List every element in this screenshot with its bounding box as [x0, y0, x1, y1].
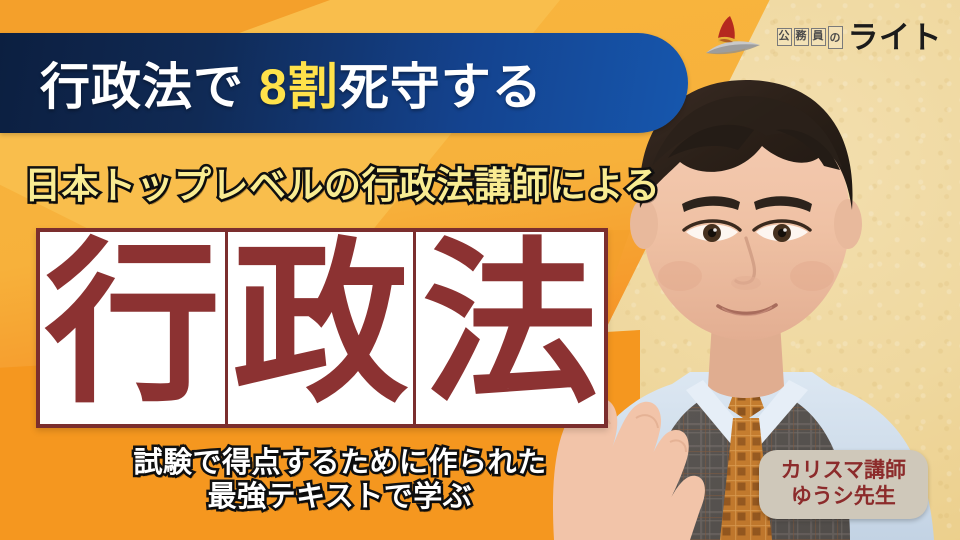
thumbnail-canvas: 公 務 員 の ライト 行政法で 8割死守する 日本トップレベルの行政法講師によ… — [0, 0, 960, 540]
light-wing-logo-icon — [702, 14, 768, 60]
caption-line-1: 試験で得点するために作られた — [70, 446, 610, 480]
title-highlight: 8割 — [259, 59, 339, 115]
kanji-char-3: 法 — [422, 243, 598, 405]
brand-logo[interactable]: 公 務 員 の ライト — [702, 14, 943, 60]
kanji-char-1: 行 — [44, 243, 220, 405]
subtitle: 日本トップレベルの行政法講師による — [24, 155, 660, 209]
title-after: 死守する — [339, 59, 543, 115]
logo-kanji-1: 務 — [794, 28, 809, 46]
caption-line-2: 最強テキストで学ぶ — [70, 480, 610, 514]
logo-text: 公 務 員 の ライト — [777, 22, 943, 53]
badge-line-1: カリスマ講師 — [781, 458, 906, 484]
instructor-name-badge: カリスマ講師 ゆうシ先生 — [759, 450, 928, 519]
kanji-box-1: 行 — [40, 232, 228, 424]
page-title: 行政法で 8割死守する — [40, 47, 543, 119]
logo-kanji-2: 員 — [811, 28, 826, 46]
title-before: 行政法で — [40, 59, 259, 115]
logo-brand-name: ライト — [848, 22, 943, 53]
kanji-char-2: 政 — [232, 243, 408, 405]
badge-line-2: ゆうシ先生 — [781, 484, 906, 510]
logo-kanji-boxes: 公 務 員 の — [777, 26, 843, 49]
logo-kanji-0: 公 — [777, 28, 792, 46]
title-banner: 行政法で 8割死守する — [0, 33, 688, 133]
kanji-box-group: 行 政 法 — [36, 228, 608, 428]
logo-particle: の — [828, 26, 843, 49]
kanji-box-2: 政 — [228, 232, 416, 424]
kanji-box-3: 法 — [416, 232, 604, 424]
caption: 試験で得点するために作られた 最強テキストで学ぶ — [70, 446, 610, 514]
